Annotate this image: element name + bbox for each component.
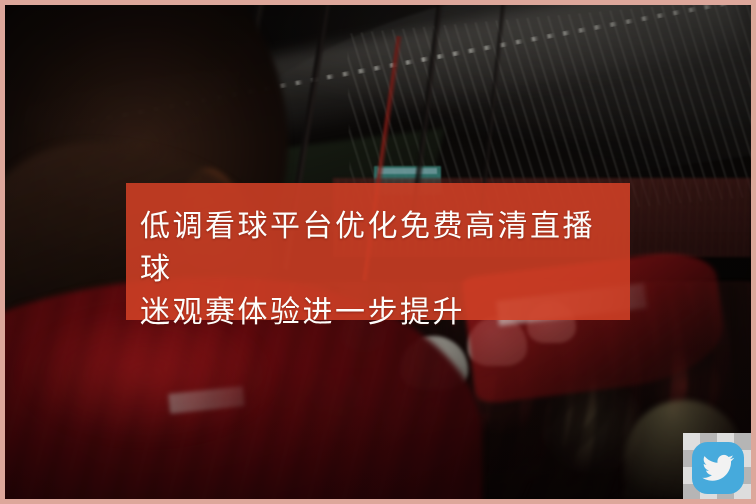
screenshot-canvas: 低调看球平台优化免费高清直播 球 迷观赛体验进一步提升: [0, 0, 756, 504]
twitter-bird-icon: [701, 451, 735, 485]
twitter-watermark[interactable]: [683, 433, 753, 503]
twitter-icon-tile[interactable]: [692, 442, 744, 494]
headline-banner: 低调看球平台优化免费高清直播 球 迷观赛体验进一步提升: [126, 183, 630, 320]
headline-text: 低调看球平台优化免费高清直播 球 迷观赛体验进一步提升: [140, 205, 616, 334]
